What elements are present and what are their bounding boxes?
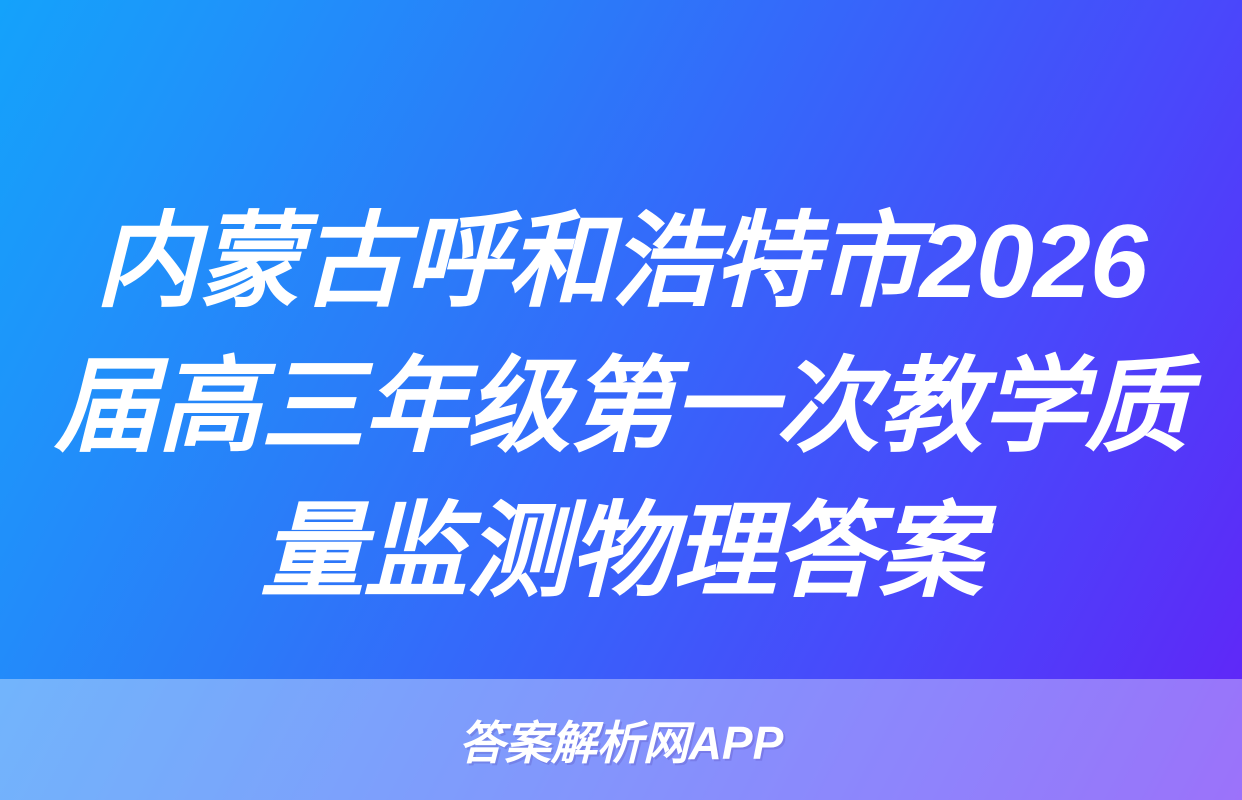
page-title: 内蒙古呼和浩特市2026 届高三年级第一次教学质 量监测物理答案 [0, 190, 1242, 625]
poster-canvas: 内蒙古呼和浩特市2026 届高三年级第一次教学质 量监测物理答案 答案解析网AP… [0, 0, 1242, 800]
title-line-2: 届高三年级第一次教学质 [0, 335, 1242, 480]
title-line-3: 量监测物理答案 [0, 480, 1242, 625]
watermark-brand-label: 答案解析网APP [0, 679, 1242, 800]
title-line-1: 内蒙古呼和浩特市2026 [0, 190, 1242, 335]
footer-band: 答案解析网APP [0, 679, 1242, 800]
